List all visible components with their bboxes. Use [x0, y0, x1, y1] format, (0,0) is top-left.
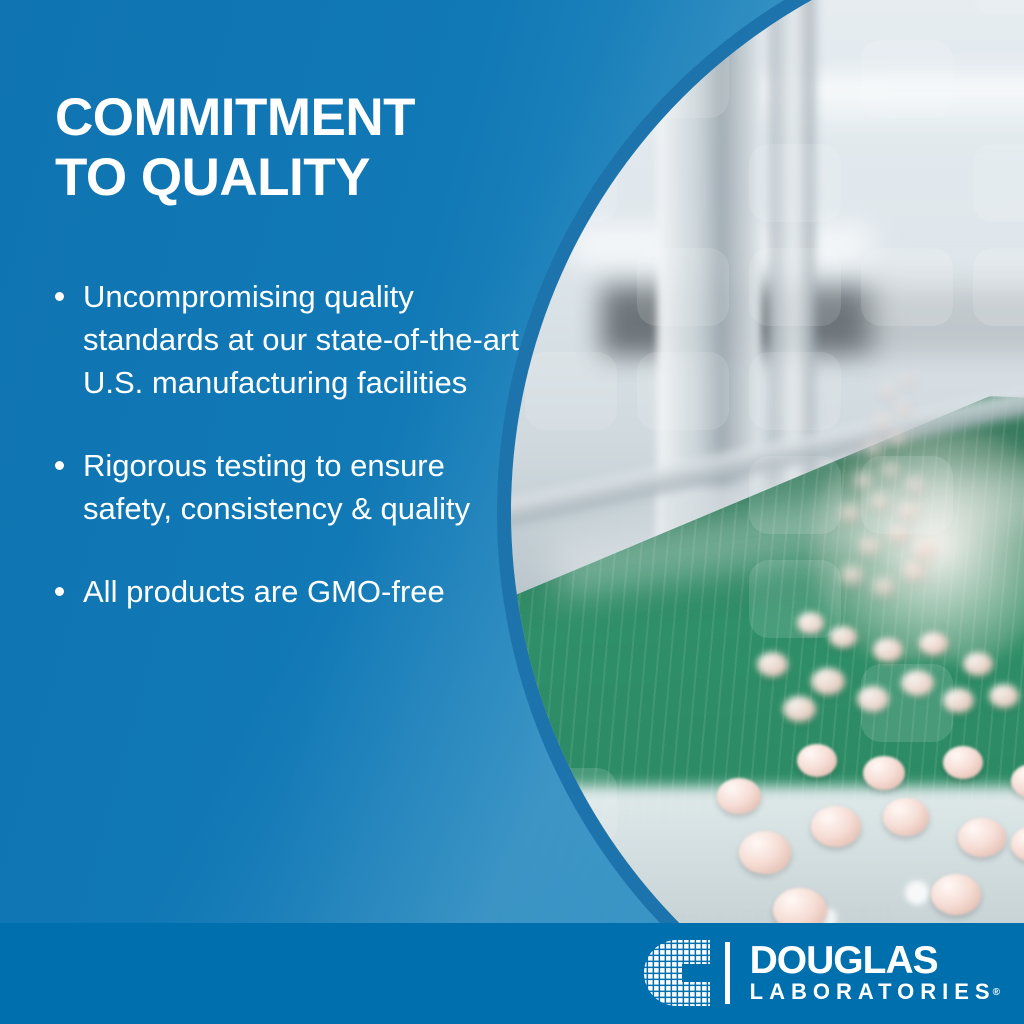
- promotional-graphic: COMMITMENT TO QUALITY Uncompromising qua…: [0, 0, 1024, 1024]
- logo-name-top: DOUGLAS: [750, 942, 1000, 979]
- list-item: Rigorous testing to ensure safety, consi…: [55, 444, 530, 530]
- benefit-list: Uncompromising quality standards at our …: [55, 275, 530, 653]
- douglas-laboratories-logo[interactable]: DOUGLAS LABORATORIES®: [642, 938, 1000, 1008]
- douglas-grid-g-icon: [642, 938, 712, 1008]
- list-item: All products are GMO-free: [55, 570, 530, 613]
- logo-name-bottom: LABORATORIES®: [750, 979, 1000, 1005]
- logo-divider: [725, 942, 730, 1004]
- logo-laboratories-text: LABORATORIES: [750, 979, 996, 1004]
- headline-line-2: TO QUALITY: [55, 148, 525, 208]
- page-title: COMMITMENT TO QUALITY: [55, 88, 525, 208]
- list-item: Uncompromising quality standards at our …: [55, 275, 530, 404]
- registered-trademark-icon: ®: [993, 980, 1000, 1005]
- headline-line-1: COMMITMENT: [55, 88, 525, 148]
- facility-photo: [511, 0, 1024, 1024]
